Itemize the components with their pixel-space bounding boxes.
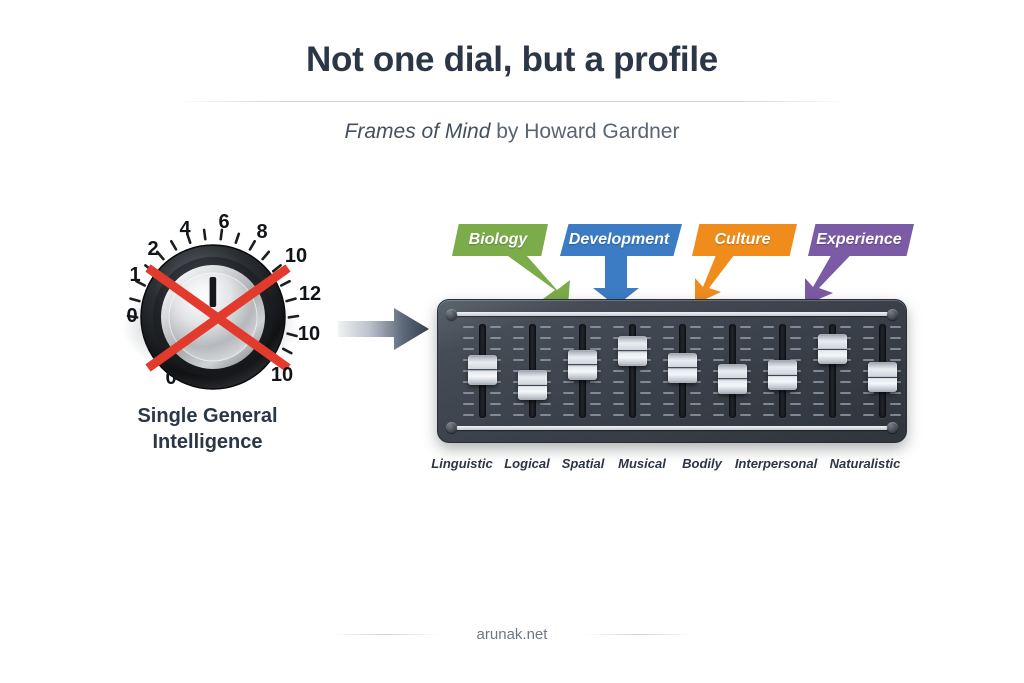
mixer-top-rail [456,312,888,316]
mixer-bottom-rail [456,426,888,430]
intelligence-label-musical: Musical [618,456,666,471]
mixer-channel-5[interactable] [662,324,702,418]
book-title: Frames of Mind [345,120,491,143]
banner-culture[interactable]: Culture [692,224,797,256]
dial-caption-line2: Intelligence [152,431,262,453]
mixer-channel-3[interactable] [562,324,602,418]
banner-development[interactable]: Development [560,224,682,256]
page-subtitle: Frames of Mind by Howard Gardner [0,120,1024,144]
mixer-channel-1[interactable] [462,324,502,418]
footer-divider-right [584,634,694,635]
slider-knob[interactable] [768,360,797,390]
banner-label: Experience [816,231,901,249]
screw-icon [887,309,898,320]
screw-icon [446,309,457,320]
screw-icon [446,422,457,433]
mixer-channel-8[interactable] [812,324,852,418]
intelligence-label-linguistic: Linguistic [431,456,492,471]
single-intelligence-dial: 0 1 2 4 6 8 10 12 10 10 0 [110,205,345,405]
intelligence-label-interpersonal: Interpersonal [735,456,817,471]
mixer-channel-4[interactable] [612,324,652,418]
intelligence-label-bodily: Bodily [682,456,722,471]
header-divider [172,101,852,102]
intelligence-label-group: LinguisticLogicalSpatialMusicalBodilyInt… [420,456,920,478]
slider-knob[interactable] [718,364,747,394]
slider-knob[interactable] [468,355,497,385]
slider-knob[interactable] [518,370,547,400]
slider-knob[interactable] [618,336,647,366]
banner-label: Biology [469,231,528,249]
banner-experience[interactable]: Experience [808,224,914,256]
mixer-channel-6[interactable] [712,324,752,418]
slide-canvas: Not one dial, but a profile Frames of Mi… [0,0,1024,683]
mixer-channel-7[interactable] [762,324,802,418]
slider-knob[interactable] [818,334,847,364]
banner-biology[interactable]: Biology [452,224,548,256]
banner-label: Development [569,231,669,249]
dial-caption: Single General Intelligence [95,403,320,455]
dial-caption-line1: Single General [137,405,277,427]
mixer-channel-2[interactable] [512,324,552,418]
right-arrow-icon [336,303,432,355]
slider-knob[interactable] [868,362,897,392]
intelligence-label-spatial: Spatial [562,456,605,471]
dial-graphic [110,205,345,405]
intelligence-label-logical: Logical [504,456,550,471]
mixer-channel-9[interactable] [862,324,902,418]
page-title: Not one dial, but a profile [0,40,1024,80]
slider-knob[interactable] [568,350,597,380]
footer-site: arunak.net [0,626,1024,643]
multiple-intelligences-mixer[interactable] [437,299,907,443]
book-author: by Howard Gardner [490,120,679,143]
screw-icon [887,422,898,433]
slider-knob[interactable] [668,353,697,383]
intelligence-label-naturalistic: Naturalistic [830,456,901,471]
banner-label: Culture [715,231,771,249]
